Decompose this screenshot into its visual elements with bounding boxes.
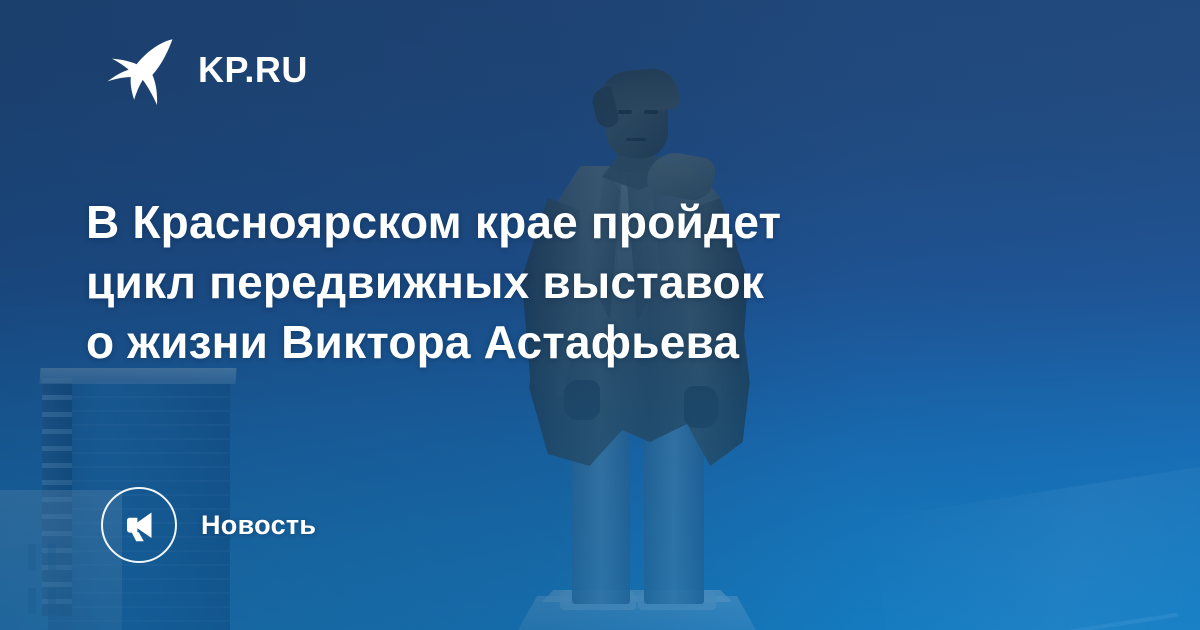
headline-line-2: цикл передвижных выставок (86, 252, 986, 312)
social-share-card: KP.RU В Красноярском крае пройдет цикл п… (0, 0, 1200, 630)
brand-logo[interactable]: KP.RU (104, 33, 308, 107)
card-content: KP.RU В Красноярском крае пройдет цикл п… (0, 0, 1200, 630)
headline: В Красноярском крае пройдет цикл передви… (86, 192, 986, 372)
headline-line-1: В Красноярском крае пройдет (86, 192, 986, 252)
badge-label: Новость (201, 510, 316, 541)
swallow-bird-icon (104, 33, 178, 107)
brand-name: KP.RU (198, 52, 308, 88)
headline-line-3: о жизни Виктора Астафьева (86, 312, 986, 372)
megaphone-icon (101, 487, 177, 563)
content-type-badge[interactable]: Новость (101, 487, 316, 563)
